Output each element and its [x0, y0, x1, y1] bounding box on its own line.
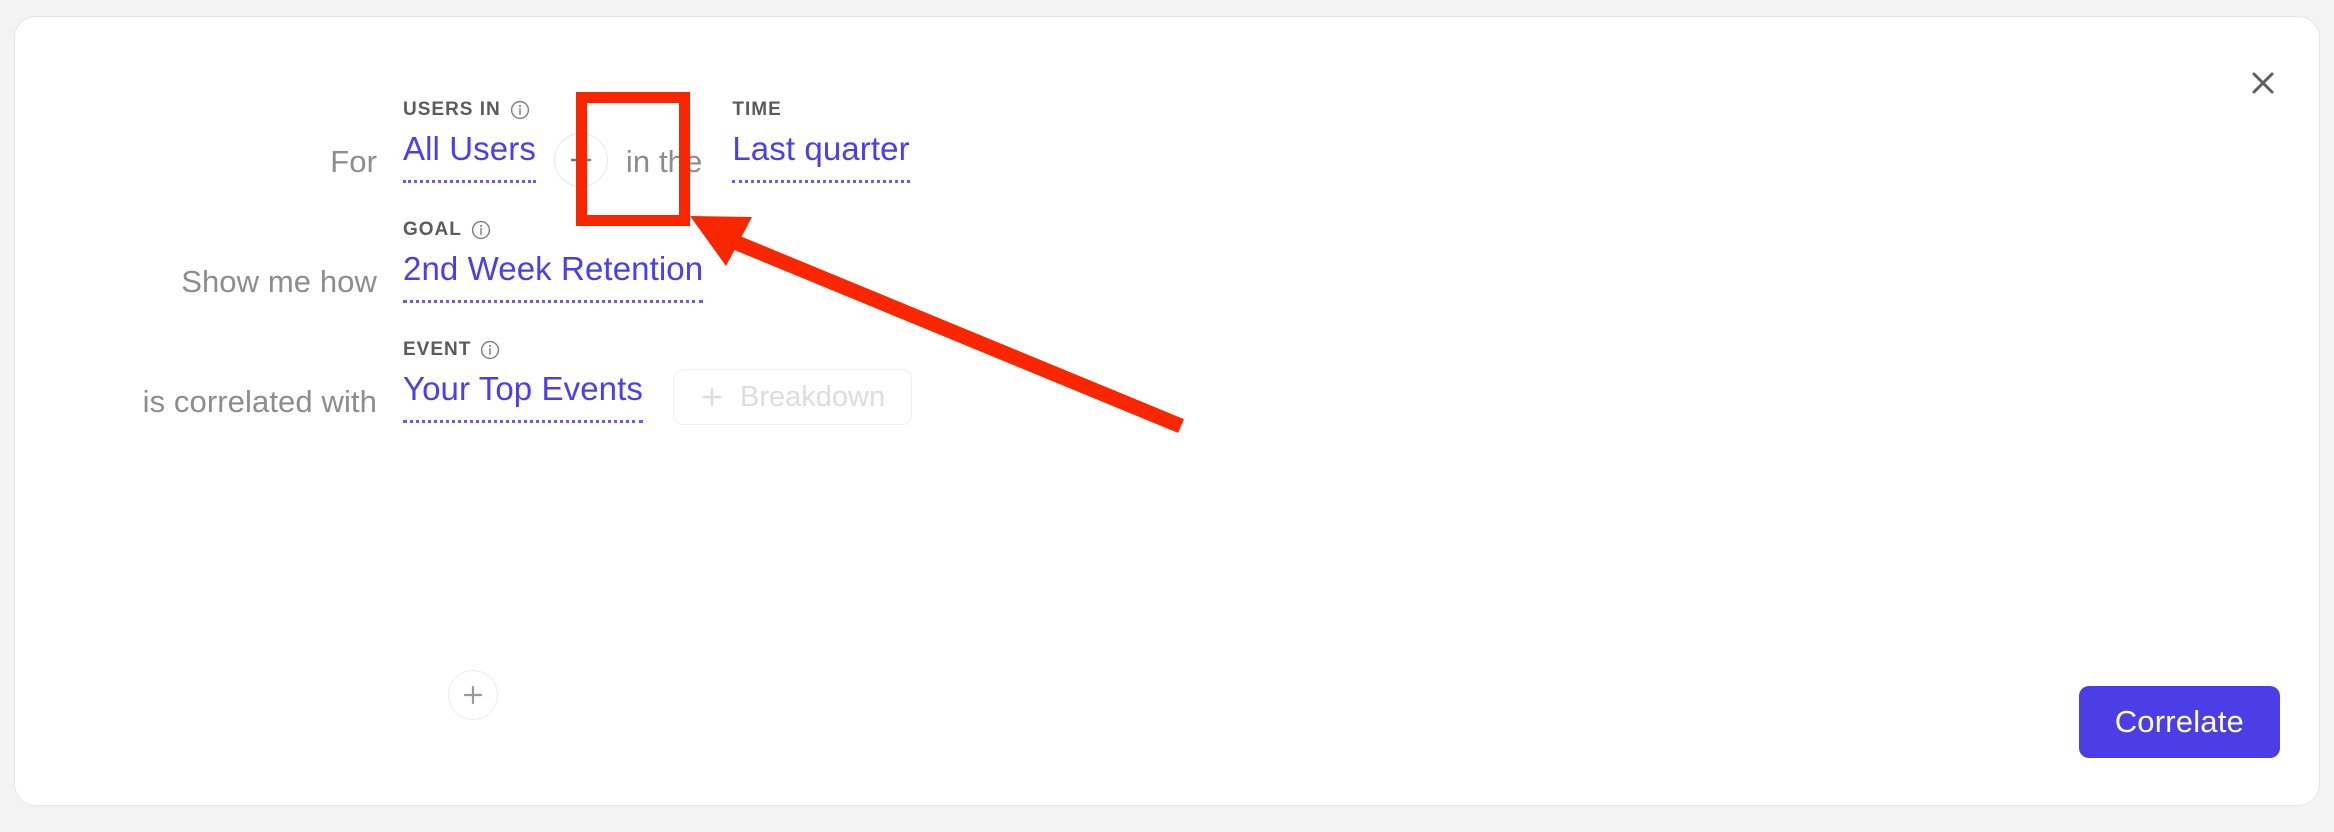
info-icon[interactable]	[510, 100, 530, 120]
query-row-goal: Show me how GOAL 2nd Week Retention	[15, 219, 703, 307]
time-label: TIME	[732, 99, 781, 121]
users-in-label: USERS IN	[403, 99, 501, 121]
time-field: TIME Last quarter	[732, 99, 909, 187]
correlation-builder-card: For USERS IN All Users	[14, 16, 2320, 806]
close-icon[interactable]	[2241, 61, 2285, 105]
event-label-group: EVENT	[403, 339, 643, 361]
users-in-field: USERS IN All Users	[403, 99, 536, 187]
query-row-users: For USERS IN All Users	[15, 99, 910, 187]
event-label: EVENT	[403, 339, 471, 361]
add-breakdown-button[interactable]: Breakdown	[673, 369, 912, 425]
goal-value[interactable]: 2nd Week Retention	[403, 249, 703, 303]
row-lead-label: is correlated with	[15, 383, 403, 427]
query-row-event: is correlated with EVENT Your Top Events	[15, 339, 912, 427]
info-icon[interactable]	[471, 220, 491, 240]
row-lead-label: For	[15, 143, 403, 187]
users-in-label-group: USERS IN	[403, 99, 536, 121]
event-value[interactable]: Your Top Events	[403, 369, 643, 423]
row-lead-label: Show me how	[15, 263, 403, 307]
correlate-button[interactable]: Correlate	[2079, 686, 2280, 758]
plus-icon	[461, 683, 485, 707]
connector-in-the: in the	[626, 143, 702, 187]
screen: For USERS IN All Users	[0, 0, 2334, 832]
plus-icon	[700, 385, 724, 409]
goal-field: GOAL 2nd Week Retention	[403, 219, 703, 307]
time-value[interactable]: Last quarter	[732, 129, 909, 183]
add-query-row-button[interactable]	[448, 670, 498, 720]
info-icon[interactable]	[480, 340, 500, 360]
goal-label: GOAL	[403, 219, 462, 241]
add-cohort-plus-button[interactable]	[554, 133, 608, 187]
time-label-group: TIME	[732, 99, 909, 121]
breakdown-label: Breakdown	[740, 381, 885, 414]
event-field: EVENT Your Top Events	[403, 339, 643, 427]
goal-label-group: GOAL	[403, 219, 703, 241]
plus-icon	[568, 147, 594, 173]
users-in-value[interactable]: All Users	[403, 129, 536, 183]
